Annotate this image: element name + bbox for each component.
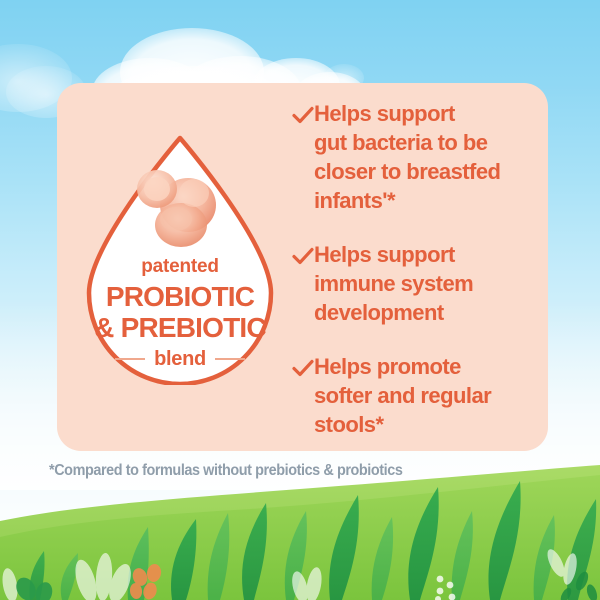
badge-dash-left (115, 358, 145, 360)
badge-probiotic-label: PROBIOTIC (84, 283, 276, 311)
probiotic-prebiotic-badge: patented PROBIOTIC & PREBIOTIC blend (84, 133, 276, 385)
badge-dash-right (215, 358, 245, 360)
check-icon (292, 247, 314, 270)
badge-prebiotic-label: & PREBIOTIC (84, 314, 276, 342)
check-icon (292, 359, 314, 382)
benefits-list: Helps support gut bacteria to be closer … (292, 99, 542, 439)
badge-blend-row: blend (84, 349, 276, 369)
promo-graphic: patented PROBIOTIC & PREBIOTIC blend Hel… (0, 0, 600, 600)
benefit-item: Helps promote softer and regular stools* (292, 352, 542, 439)
benefit-item: Helps support immune system development (292, 240, 542, 327)
benefit-text: Helps support immune system development (314, 240, 473, 327)
benefit-text: Helps promote softer and regular stools* (314, 352, 491, 439)
badge-blend-label: blend (154, 349, 206, 369)
meadow-illustration (0, 465, 600, 600)
benefit-text: Helps support gut bacteria to be closer … (314, 99, 500, 215)
badge-patented-label: patented (84, 257, 276, 276)
check-icon (292, 106, 314, 129)
benefit-item: Helps support gut bacteria to be closer … (292, 99, 542, 215)
